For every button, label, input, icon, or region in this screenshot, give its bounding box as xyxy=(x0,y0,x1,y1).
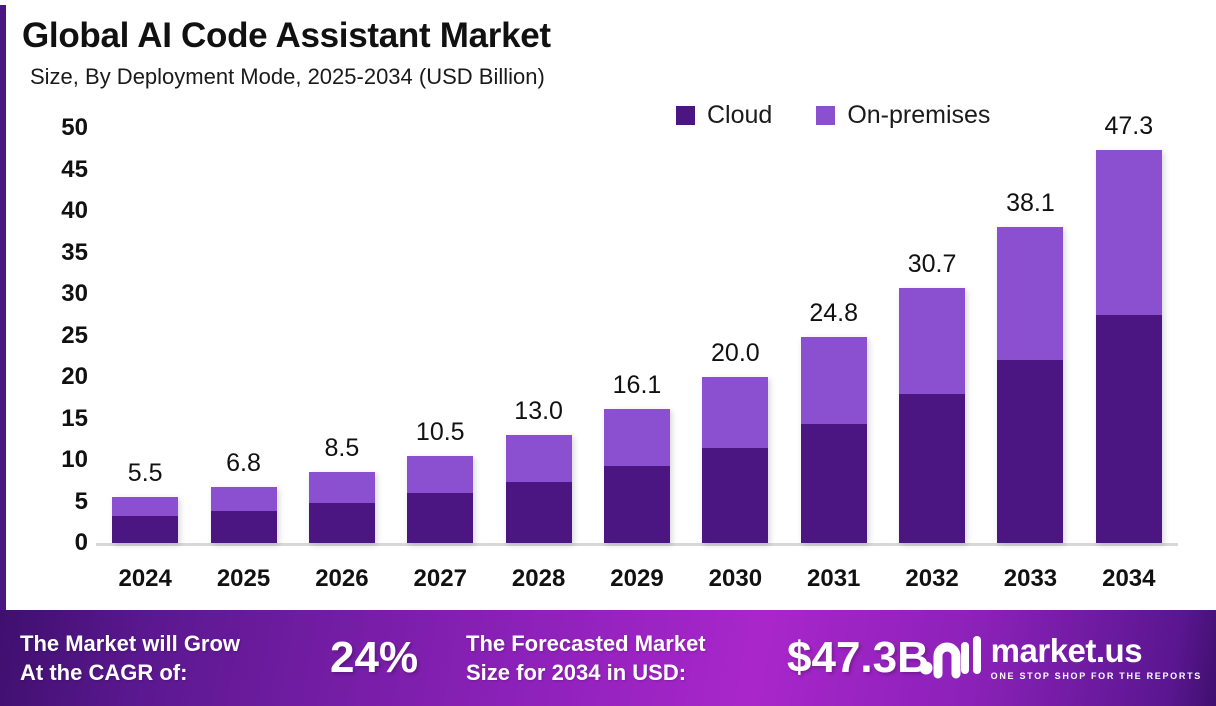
bar-segment-on-premises[interactable] xyxy=(604,409,670,465)
cagr-caption-block: The Market will Grow At the CAGR of: xyxy=(20,629,240,687)
bar-group-2032[interactable]: 30.72032 xyxy=(883,0,981,606)
market-us-logo[interactable]: market.us ONE STOP SHOP FOR THE REPORTS xyxy=(919,632,1202,685)
bar-segment-on-premises[interactable] xyxy=(997,227,1063,360)
x-axis-tick: 2030 xyxy=(709,567,762,591)
cagr-caption: The Market will Grow At the CAGR of: xyxy=(20,629,240,687)
bar-value-label: 16.1 xyxy=(613,373,662,398)
bar-value-label: 38.1 xyxy=(1006,191,1055,216)
x-axis-tick: 2024 xyxy=(118,567,171,591)
bar-segment-cloud[interactable] xyxy=(801,424,867,543)
bar-group-2034[interactable]: 47.32034 xyxy=(1080,0,1178,606)
bar-segment-cloud[interactable] xyxy=(506,482,572,543)
y-axis-tick: 25 xyxy=(61,324,88,348)
stacked-bar[interactable] xyxy=(211,487,277,543)
bar-segment-on-premises[interactable] xyxy=(407,456,473,493)
bar-segment-on-premises[interactable] xyxy=(801,337,867,424)
stacked-bar[interactable] xyxy=(604,409,670,543)
forecast-caption-block: The Forecasted Market Size for 2034 in U… xyxy=(466,629,706,687)
bar-segment-cloud[interactable] xyxy=(702,448,768,543)
bar-value-label: 47.3 xyxy=(1104,114,1153,139)
bar-segment-cloud[interactable] xyxy=(1096,315,1162,543)
bar-segment-on-premises[interactable] xyxy=(702,377,768,448)
bar-segment-cloud[interactable] xyxy=(899,394,965,543)
bar-segment-on-premises[interactable] xyxy=(899,288,965,393)
market-us-mark-icon xyxy=(919,632,981,685)
stacked-bar[interactable] xyxy=(1096,150,1162,543)
summary-banner: The Market will Grow At the CAGR of: 24%… xyxy=(0,610,1216,706)
bar-value-label: 10.5 xyxy=(416,420,465,445)
bar-segment-cloud[interactable] xyxy=(997,360,1063,543)
x-axis-tick: 2031 xyxy=(807,567,860,591)
bar-group-2026[interactable]: 8.52026 xyxy=(293,0,391,606)
bar-value-label: 5.5 xyxy=(128,461,163,486)
bars-container: 5.520246.820258.5202610.5202713.0202816.… xyxy=(96,0,1178,606)
chart-infographic: Global AI Code Assistant Market Size, By… xyxy=(0,0,1216,706)
y-axis-tick: 45 xyxy=(61,158,88,182)
forecast-value: $47.3B xyxy=(787,634,929,682)
y-axis: 50454035302520151050 xyxy=(24,0,88,606)
x-axis-tick: 2032 xyxy=(905,567,958,591)
bar-group-2029[interactable]: 16.12029 xyxy=(588,0,686,606)
y-axis-tick: 5 xyxy=(75,490,88,514)
bar-group-2024[interactable]: 5.52024 xyxy=(96,0,194,606)
cagr-value-block: 24% xyxy=(330,634,418,682)
bar-segment-on-premises[interactable] xyxy=(211,487,277,511)
bar-value-label: 8.5 xyxy=(325,436,360,461)
bar-segment-on-premises[interactable] xyxy=(309,472,375,503)
y-axis-tick: 30 xyxy=(61,282,88,306)
y-axis-tick: 20 xyxy=(61,365,88,389)
forecast-value-block: $47.3B xyxy=(787,634,929,682)
y-axis-tick: 10 xyxy=(61,448,88,472)
stacked-bar[interactable] xyxy=(702,377,768,543)
forecast-caption: The Forecasted Market Size for 2034 in U… xyxy=(466,629,706,687)
logo-name: market.us xyxy=(991,634,1202,667)
y-axis-tick: 50 xyxy=(61,116,88,140)
x-axis-tick: 2033 xyxy=(1004,567,1057,591)
bar-group-2027[interactable]: 10.52027 xyxy=(391,0,489,606)
stacked-bar[interactable] xyxy=(506,435,572,543)
x-axis-tick: 2026 xyxy=(315,567,368,591)
logo-text: market.us ONE STOP SHOP FOR THE REPORTS xyxy=(991,634,1202,683)
stacked-bar[interactable] xyxy=(407,456,473,543)
y-axis-tick: 15 xyxy=(61,407,88,431)
x-axis-tick: 2027 xyxy=(414,567,467,591)
bar-segment-on-premises[interactable] xyxy=(506,435,572,481)
x-axis-tick: 2025 xyxy=(217,567,270,591)
y-axis-tick: 0 xyxy=(75,531,88,555)
x-axis-tick: 2029 xyxy=(610,567,663,591)
bar-group-2030[interactable]: 20.02030 xyxy=(686,0,784,606)
plot-area: 50454035302520151050 5.520246.820258.520… xyxy=(0,0,1216,606)
bar-value-label: 13.0 xyxy=(514,399,563,424)
bar-group-2031[interactable]: 24.82031 xyxy=(785,0,883,606)
bar-segment-cloud[interactable] xyxy=(112,516,178,543)
bar-value-label: 30.7 xyxy=(908,252,957,277)
stacked-bar[interactable] xyxy=(309,472,375,543)
stacked-bar[interactable] xyxy=(801,337,867,543)
bar-group-2025[interactable]: 6.82025 xyxy=(194,0,292,606)
x-axis-tick: 2028 xyxy=(512,567,565,591)
bar-value-label: 6.8 xyxy=(226,451,261,476)
bar-segment-cloud[interactable] xyxy=(211,511,277,543)
stacked-bar[interactable] xyxy=(997,227,1063,543)
bar-segment-on-premises[interactable] xyxy=(112,497,178,516)
stacked-bar[interactable] xyxy=(899,288,965,543)
logo-tagline: ONE STOP SHOP FOR THE REPORTS xyxy=(991,669,1202,683)
bar-segment-cloud[interactable] xyxy=(407,493,473,543)
bar-segment-on-premises[interactable] xyxy=(1096,150,1162,314)
bar-value-label: 20.0 xyxy=(711,341,760,366)
y-axis-tick: 35 xyxy=(61,241,88,265)
x-axis-tick: 2034 xyxy=(1102,567,1155,591)
bar-group-2033[interactable]: 38.12033 xyxy=(981,0,1079,606)
stacked-bar[interactable] xyxy=(112,497,178,543)
cagr-value: 24% xyxy=(330,634,418,682)
bar-segment-cloud[interactable] xyxy=(309,503,375,543)
y-axis-tick: 40 xyxy=(61,199,88,223)
bar-value-label: 24.8 xyxy=(809,301,858,326)
bar-group-2028[interactable]: 13.02028 xyxy=(489,0,587,606)
bar-segment-cloud[interactable] xyxy=(604,466,670,543)
